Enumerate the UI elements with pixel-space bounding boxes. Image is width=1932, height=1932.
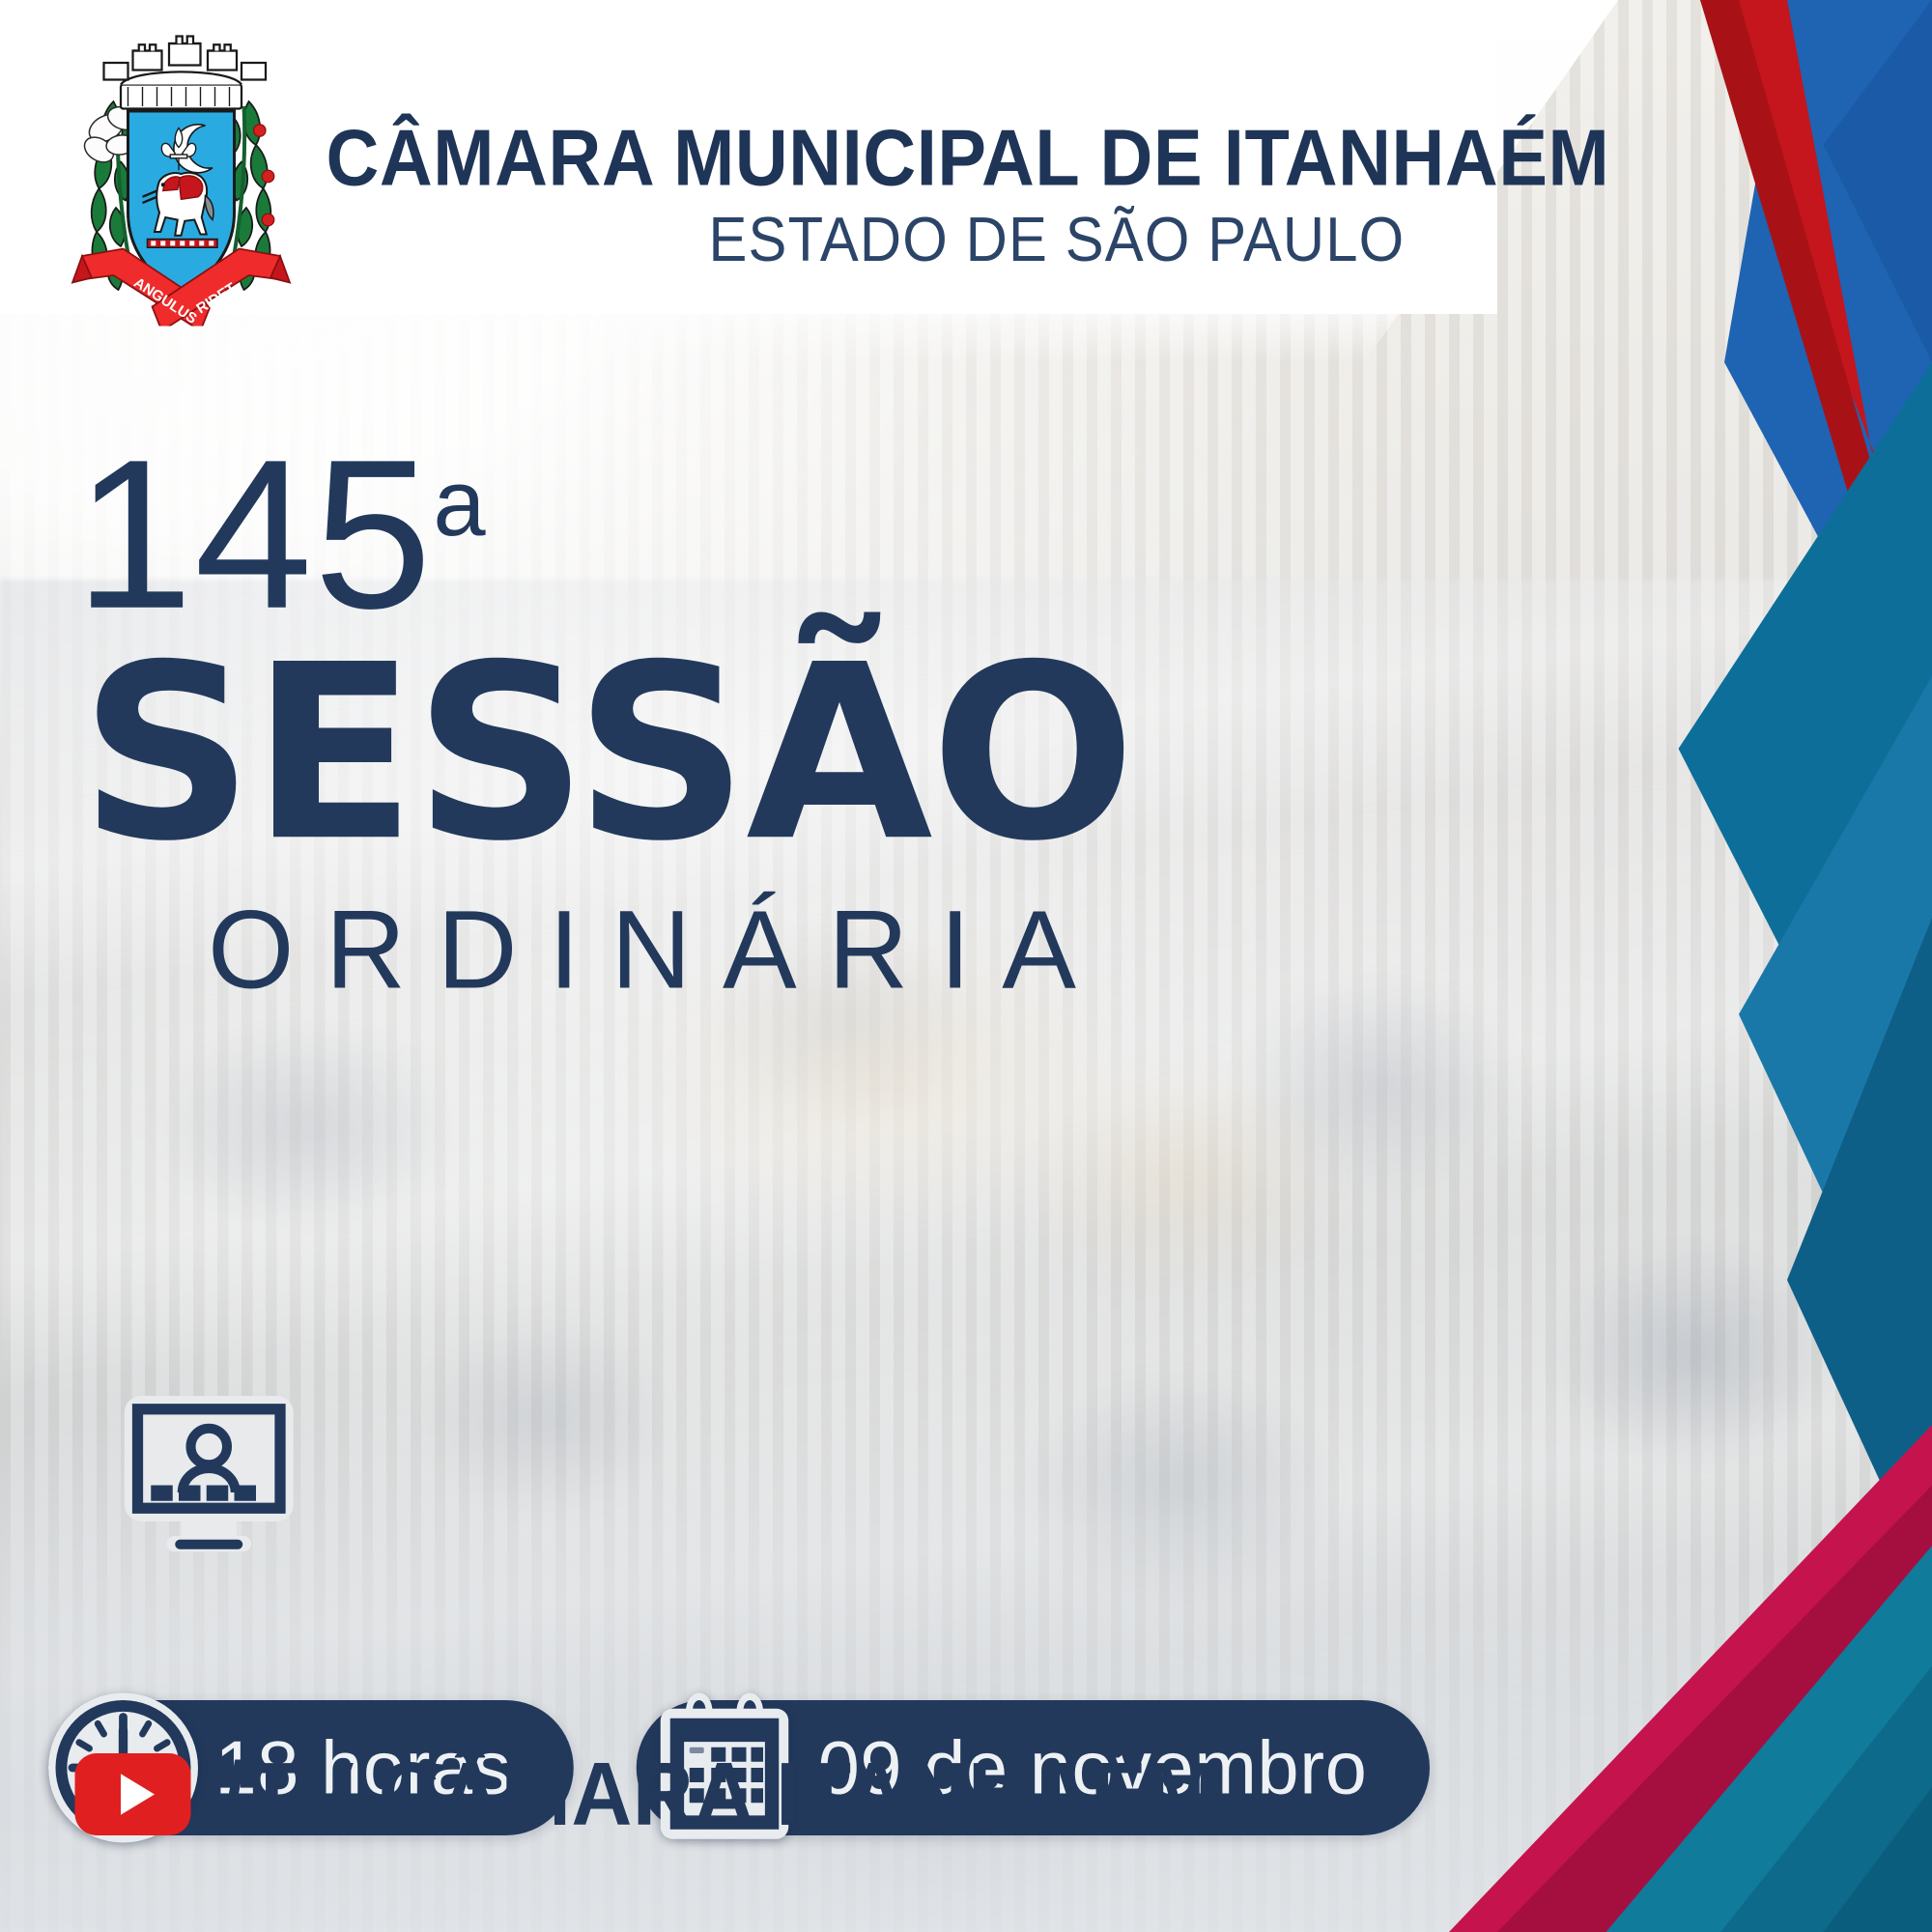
youtube-channel-label: /TV CÂMARA ITANHAÉM: [222, 1743, 1217, 1845]
session-kind: ORDINÁRIA: [208, 888, 1133, 1014]
session-ordinal-suffix: a: [433, 449, 486, 555]
session-title-block: 145a SESSÃO ORDINÁRIA: [75, 435, 1134, 1014]
presentation-screen-icon: [119, 1386, 300, 1574]
brand-title: CÂMARA MUNICIPAL DE ITANHAÉM: [327, 118, 1610, 198]
itanhaem-coat-of-arms-icon: ANGULUS RIDET: [53, 27, 309, 327]
youtube-icon: [75, 1752, 191, 1834]
brand-header: ANGULUS RIDET CÂMARA MUNICIPAL DE ITANHA…: [53, 27, 1721, 327]
brand-subtitle: ESTADO DE SÃO PAULO: [327, 207, 1610, 275]
youtube-footer[interactable]: /TV CÂMARA ITANHAÉM: [75, 1743, 1282, 1845]
session-number-line: 145a: [75, 435, 1134, 637]
brand-text-group: CÂMARA MUNICIPAL DE ITANHAÉM ESTADO DE S…: [327, 76, 1721, 275]
session-word: SESSÃO: [80, 643, 1134, 866]
play-triangle-icon: [120, 1774, 154, 1815]
poster-canvas: ANGULUS RIDET CÂMARA MUNICIPAL DE ITANHA…: [0, 0, 1932, 1932]
